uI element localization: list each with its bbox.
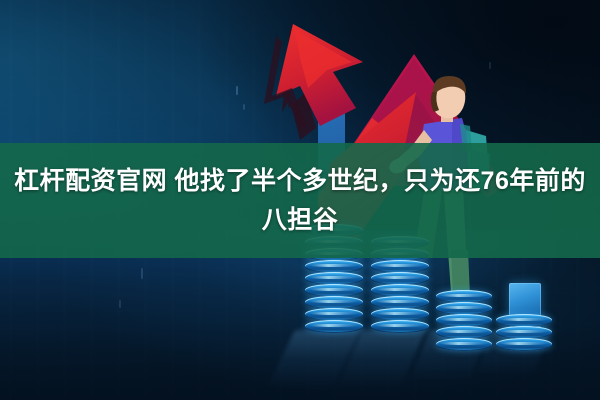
banner-image: 杠杆配资官网 他找了半个多世纪，只为还76年前的八担谷 — [0, 0, 600, 400]
coin — [305, 320, 363, 333]
coin-stack-4 — [496, 314, 552, 354]
coin — [496, 338, 552, 351]
coin-stack-3 — [436, 290, 492, 352]
coin — [371, 320, 429, 333]
coin — [436, 338, 492, 351]
caption-text: 杠杆配资官网 他找了半个多世纪，只为还76年前的八担谷 — [0, 143, 600, 258]
